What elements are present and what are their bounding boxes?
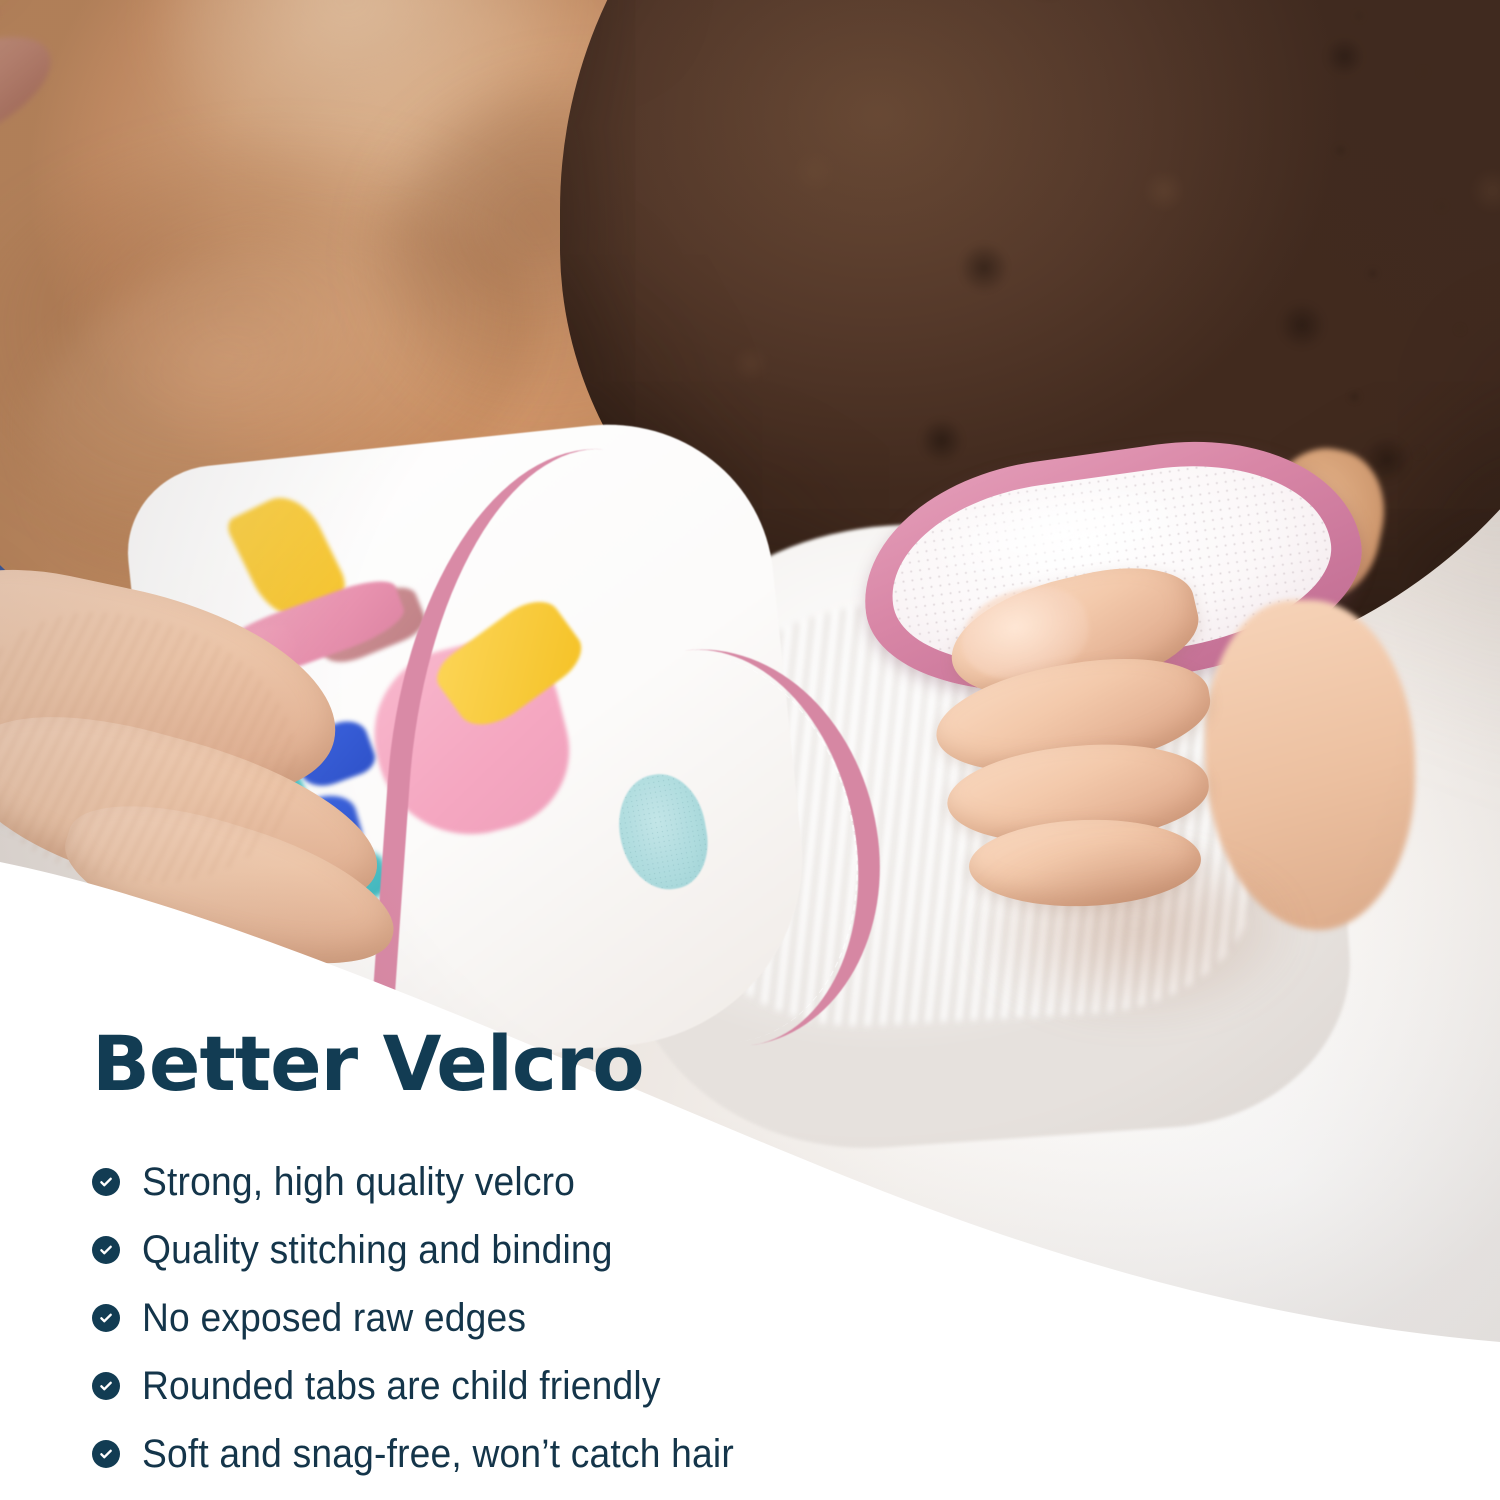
list-item: Quality stitching and binding bbox=[92, 1216, 1092, 1284]
feature-list: Strong, high quality velcro Quality stit… bbox=[92, 1148, 1092, 1488]
check-circle-icon bbox=[92, 1440, 120, 1468]
feature-label: Quality stitching and binding bbox=[142, 1228, 613, 1273]
list-item: No exposed raw edges bbox=[92, 1284, 1092, 1352]
list-item: Soft and snag-free, won’t catch hair bbox=[92, 1420, 1092, 1488]
check-circle-icon bbox=[92, 1372, 120, 1400]
product-feature-card: Better Velcro Strong, high quality velcr… bbox=[0, 0, 1500, 1500]
page-title: Better Velcro bbox=[92, 1026, 644, 1102]
list-item: Rounded tabs are child friendly bbox=[92, 1352, 1092, 1420]
check-circle-icon bbox=[92, 1236, 120, 1264]
feature-label: Strong, high quality velcro bbox=[142, 1160, 575, 1205]
feature-label: No exposed raw edges bbox=[142, 1296, 526, 1341]
feature-text-block: Better Velcro Strong, high quality velcr… bbox=[0, 0, 1500, 1500]
feature-label: Soft and snag-free, won’t catch hair bbox=[142, 1432, 734, 1477]
list-item: Strong, high quality velcro bbox=[92, 1148, 1092, 1216]
check-circle-icon bbox=[92, 1168, 120, 1196]
check-circle-icon bbox=[92, 1304, 120, 1332]
feature-label: Rounded tabs are child friendly bbox=[142, 1364, 661, 1409]
